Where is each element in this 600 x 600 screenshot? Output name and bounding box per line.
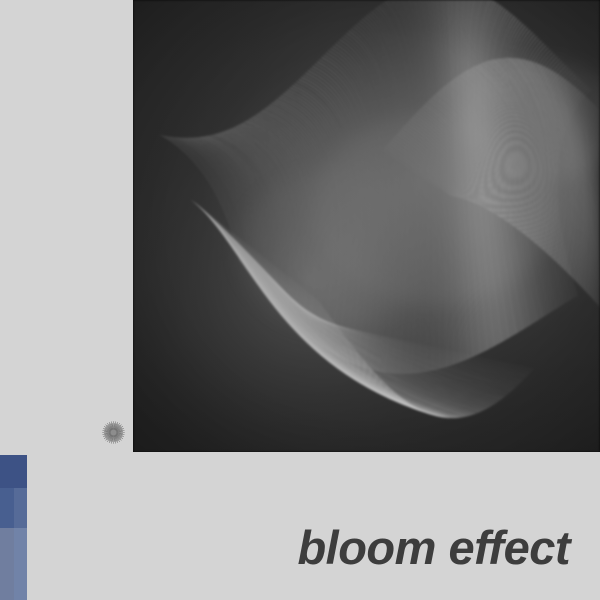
swatch-indigo[interactable]: [0, 488, 14, 528]
poster-canvas: bloom effect: [0, 0, 600, 600]
art-panel[interactable]: [133, 0, 600, 452]
starburst-icon[interactable]: [101, 420, 126, 445]
swatch-steel-blue[interactable]: [14, 488, 27, 528]
bloom-artwork: [133, 0, 600, 452]
swatch-deep-blue[interactable]: [0, 455, 27, 488]
page-title: bloom effect: [0, 524, 570, 571]
